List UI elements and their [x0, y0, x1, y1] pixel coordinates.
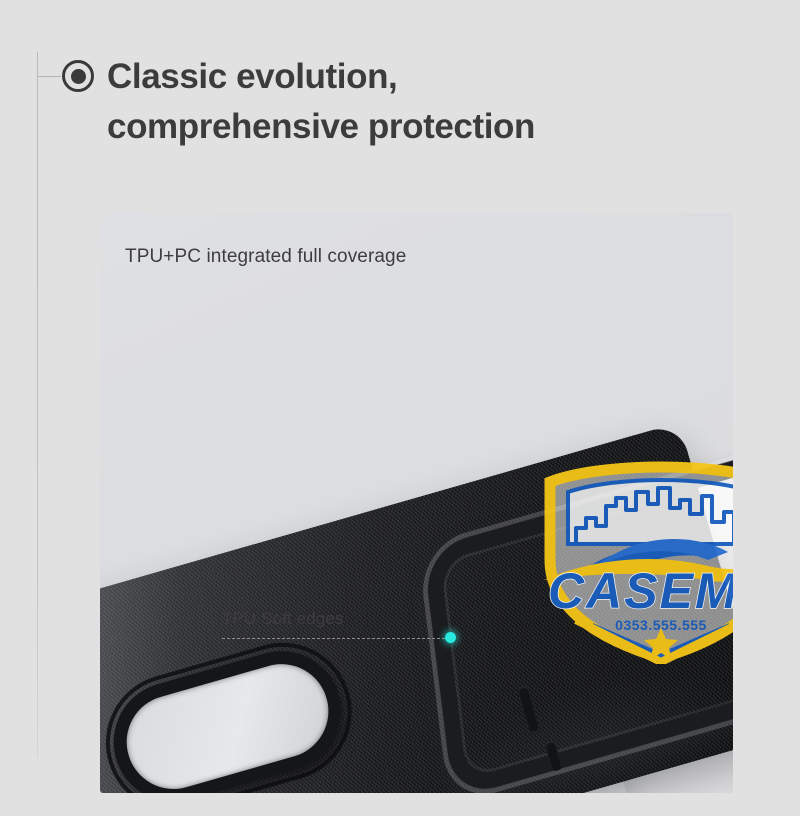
- callout-label-tpu-soft-edges: TPU Soft edges: [222, 609, 343, 629]
- caseme-watermark-logo: CASEME 0353.555.555: [532, 448, 733, 664]
- callout-dot-tpu-soft-edges: [445, 632, 456, 643]
- page-title: Classic evolution, comprehensive protect…: [107, 52, 747, 152]
- left-rail-connector-line: [38, 76, 61, 77]
- left-rail-vertical-line: [37, 52, 38, 758]
- callout-line-tpu-soft-edges: [222, 638, 450, 639]
- skyline-panel-icon: [568, 480, 733, 544]
- product-feature-page: Classic evolution, comprehensive protect…: [0, 0, 800, 816]
- page-title-line-2: comprehensive protection: [107, 102, 747, 152]
- target-dot-icon: [62, 60, 94, 92]
- product-feature-card: TPU+PC integrated full coverage: [100, 213, 733, 793]
- card-title: TPU+PC integrated full coverage: [125, 246, 406, 268]
- page-title-line-1: Classic evolution,: [107, 52, 747, 102]
- brand-wordmark: CASEME: [548, 563, 733, 619]
